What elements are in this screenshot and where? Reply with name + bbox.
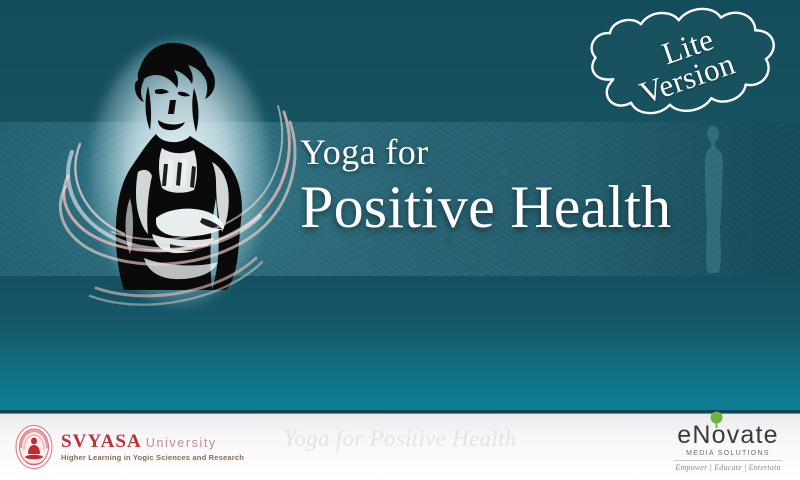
standing-figure-silhouette-icon [696,124,730,274]
svyasa-name: SVYASAUniversity [61,432,244,451]
svyasa-name-suffix: University [146,436,217,450]
enovate-divider [674,460,782,461]
tree-icon [708,411,725,428]
slide-canvas: Yoga for Positive Health Lite Version Yo… [0,0,800,480]
svyasa-seal-icon [14,424,54,470]
title-line-2: Positive Health [300,177,700,237]
enovate-tagline: Empower | Educate | Entertain [670,463,786,472]
enovate-logo[interactable]: eNovate MEDIA SOLUTIONS Empower | Educat… [670,423,786,472]
swami-vivekananda-silhouette-icon [52,22,302,322]
hero-illustration [52,22,302,322]
svyasa-name-main: SVYASA [61,431,142,452]
svyasa-text-block: SVYASAUniversity Higher Learning in Yogi… [61,432,244,462]
svyasa-logo[interactable]: SVYASAUniversity Higher Learning in Yogi… [14,424,244,470]
enovate-wordmark: eNovate [670,423,786,448]
lite-version-badge[interactable]: Lite Version [572,6,796,126]
enovate-word-text: eNovate [677,421,779,449]
svyasa-tagline: Higher Learning in Yogic Sciences and Re… [61,454,244,462]
page-title: Yoga for Positive Health [300,134,700,237]
enovate-subtitle: MEDIA SOLUTIONS [670,450,786,457]
